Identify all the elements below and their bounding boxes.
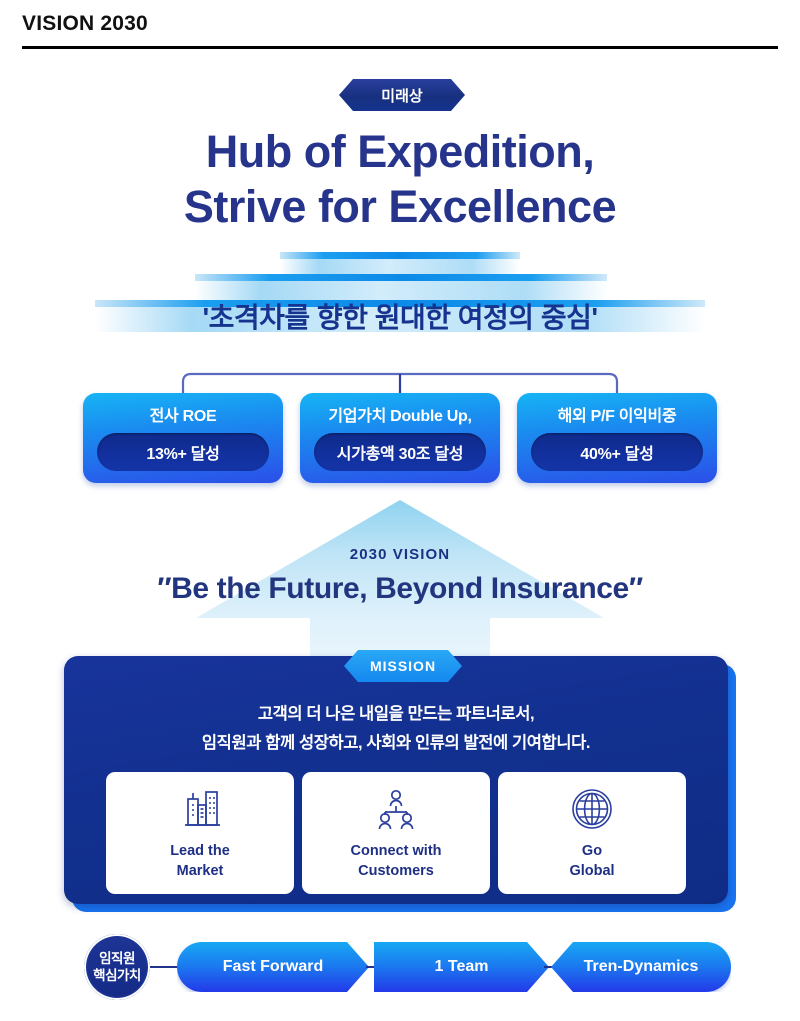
core-value-chip[interactable]: 1 Team [374, 942, 549, 992]
kpi-card-value: 40%+ 달성 [531, 433, 703, 471]
core-values-row: 임직원 핵심가치 Fast Forward 1 Team Tren-Dynami… [0, 934, 800, 1000]
main-headline-line2: Strive for Excellence [0, 180, 800, 235]
header-divider [22, 46, 778, 49]
future-vision-badge: 미래상 [339, 79, 465, 111]
mission-statement-line1: 고객의 더 나은 내일을 만드는 파트너로서, [64, 700, 728, 729]
pedestal-step-top [280, 252, 520, 274]
mission-statement: 고객의 더 나은 내일을 만드는 파트너로서, 임직원과 함께 성장하고, 사회… [64, 700, 728, 758]
mission-badge: MISSION [344, 650, 462, 682]
core-value-label: Tren-Dynamics [584, 958, 699, 976]
core-values-circle-line2: 핵심가치 [93, 968, 141, 983]
buildings-icon [177, 785, 223, 833]
mission-card-label: Lead the Market [170, 842, 230, 880]
vision-2030-infographic: VISION 2030 미래상 Hub of Expedition, Striv… [0, 0, 800, 1021]
mission-card-row: Lead the Market C [64, 772, 728, 894]
mission-statement-line2: 임직원과 함께 성장하고, 사회와 인류의 발전에 기여합니다. [64, 729, 728, 758]
mission-card[interactable]: Go Global [498, 772, 686, 894]
kpi-card-title: 해외 P/F 이익비중 [558, 402, 677, 426]
mission-card-label: Go Global [569, 842, 614, 880]
mission-card-label-line1: Connect with [350, 842, 441, 861]
kpi-card-value: 시가총액 30조 달성 [314, 433, 486, 471]
step-body [280, 259, 520, 274]
kpi-card[interactable]: 해외 P/F 이익비중 40%+ 달성 [517, 393, 717, 483]
slogan-text: '초격차를 향한 원대한 여정의 중심' [0, 296, 800, 336]
core-value-chip[interactable]: Fast Forward [177, 942, 369, 992]
core-values-circle: 임직원 핵심가치 [84, 934, 150, 1000]
people-network-icon [372, 785, 420, 833]
mission-card-label-line2: Global [569, 862, 614, 881]
kpi-card[interactable]: 기업가치 Double Up, 시가총액 30조 달성 [300, 393, 500, 483]
vision-kicker: 2030 VISION [0, 546, 800, 563]
step-cap [195, 274, 607, 281]
kpi-card[interactable]: 전사 ROE 13%+ 달성 [83, 393, 283, 483]
mission-card-label-line2: Market [170, 862, 230, 881]
mission-card-label-line1: Go [569, 842, 614, 861]
vision-quote: ″Be the Future, Beyond Insurance″ [0, 572, 800, 606]
main-headline: Hub of Expedition, Strive for Excellence [0, 125, 800, 235]
mission-card-label: Connect with Customers [350, 842, 441, 880]
core-values-circle-label: 임직원 핵심가치 [93, 950, 141, 985]
kpi-card-value: 13%+ 달성 [97, 433, 269, 471]
mission-card[interactable]: Connect with Customers [302, 772, 490, 894]
main-headline-line1: Hub of Expedition, [0, 125, 800, 180]
core-value-chip[interactable]: Tren-Dynamics [551, 942, 731, 992]
future-vision-badge-label: 미래상 [381, 85, 422, 106]
globe-icon [569, 785, 615, 833]
mission-card-label-line2: Customers [350, 862, 441, 881]
mission-card-label-line1: Lead the [170, 842, 230, 861]
kpi-card-title: 기업가치 Double Up, [328, 402, 471, 426]
core-values-circle-line1: 임직원 [99, 951, 135, 966]
step-cap [280, 252, 520, 259]
mission-badge-label: MISSION [370, 658, 436, 674]
kpi-card-title: 전사 ROE [150, 402, 217, 426]
value-connector-line [150, 966, 180, 968]
mission-card[interactable]: Lead the Market [106, 772, 294, 894]
page-title: VISION 2030 [22, 12, 148, 36]
core-value-label: Fast Forward [223, 958, 323, 976]
core-value-label: 1 Team [435, 958, 489, 976]
kpi-card-row: 전사 ROE 13%+ 달성 기업가치 Double Up, 시가총액 30조 … [0, 393, 800, 483]
